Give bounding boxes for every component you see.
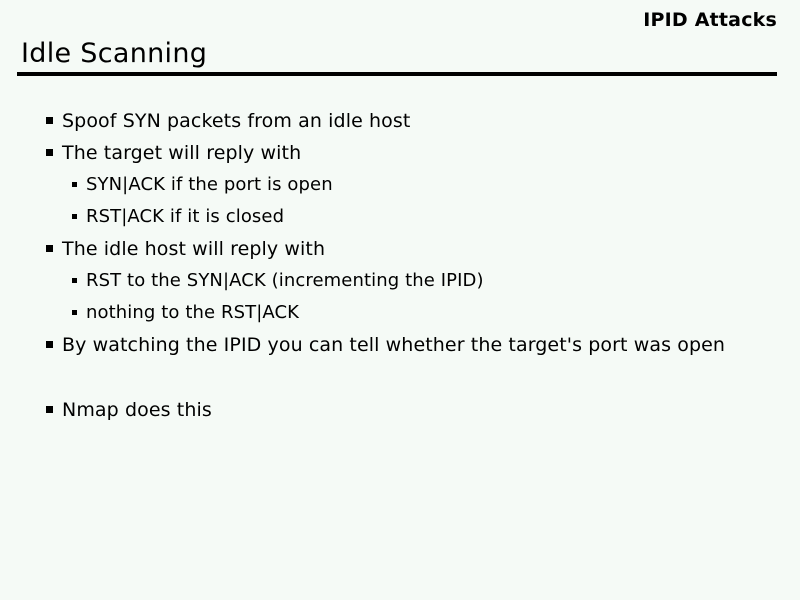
list-item-label: SYN|ACK if the port is open <box>86 170 800 200</box>
square-bullet-icon <box>46 341 53 348</box>
list-item-label: RST|ACK if it is closed <box>86 202 800 232</box>
list-item: RST to the SYN|ACK (incrementing the IPI… <box>0 266 800 298</box>
list-item: SYN|ACK if the port is open <box>0 170 800 202</box>
list-item-label: Nmap does this <box>62 395 800 425</box>
square-bullet-small-icon <box>72 182 77 187</box>
title-divider <box>17 72 777 76</box>
list-item-label: The target will reply with <box>62 138 800 168</box>
list-item: Nmap does this <box>0 395 800 427</box>
list-item-label: Spoof SYN packets from an idle host <box>62 106 800 136</box>
running-head: IPID Attacks <box>643 8 777 32</box>
list-item: The idle host will reply with <box>0 234 800 266</box>
square-bullet-icon <box>46 117 53 124</box>
list-item-label: nothing to the RST|ACK <box>86 298 800 328</box>
square-bullet-icon <box>46 149 53 156</box>
list-item: The target will reply with <box>0 138 800 170</box>
square-bullet-small-icon <box>72 310 77 315</box>
list-item: RST|ACK if it is closed <box>0 202 800 234</box>
list-item-label: RST to the SYN|ACK (incrementing the IPI… <box>86 266 800 296</box>
list-item: By watching the IPID you can tell whethe… <box>0 330 800 362</box>
square-bullet-icon <box>46 245 53 252</box>
square-bullet-small-icon <box>72 278 77 283</box>
square-bullet-small-icon <box>72 214 77 219</box>
bullet-list: Spoof SYN packets from an idle host The … <box>0 106 800 427</box>
list-item: nothing to the RST|ACK <box>0 298 800 330</box>
square-bullet-icon <box>46 406 53 413</box>
list-item-label: By watching the IPID you can tell whethe… <box>62 330 800 360</box>
list-item: Spoof SYN packets from an idle host <box>0 106 800 138</box>
list-item-label: The idle host will reply with <box>62 234 800 264</box>
slide: IPID Attacks Idle Scanning Spoof SYN pac… <box>0 0 800 600</box>
page-title: Idle Scanning <box>21 37 207 71</box>
